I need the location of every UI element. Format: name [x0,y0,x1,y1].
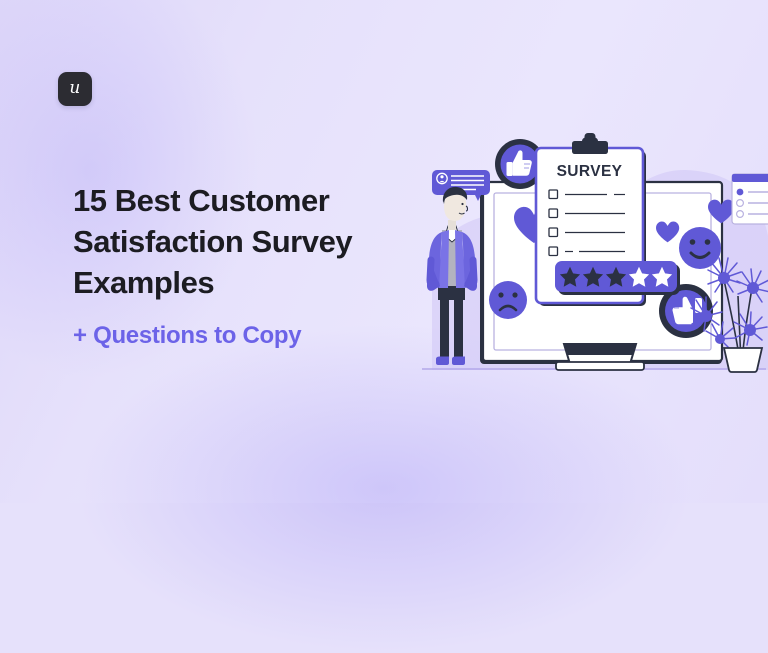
hero-illustration: SURVEY [418,108,768,383]
radio-option-3 [737,211,744,218]
happy-face-icon [679,227,721,269]
star-rating-bar [555,261,680,295]
survey-title: SURVEY [557,163,623,180]
userpilot-u-logo-icon: u [69,80,80,99]
sad-face-icon [489,281,527,319]
brand-logo[interactable]: u [58,72,92,106]
radio-option-2 [737,200,744,207]
headline-block: 15 Best Customer Satisfaction Survey Exa… [73,180,443,351]
poll-card [732,174,768,224]
page-title: 15 Best Customer Satisfaction Survey Exa… [73,180,443,304]
page-subtitle: + Questions to Copy [73,321,443,351]
radio-selected [737,189,744,196]
